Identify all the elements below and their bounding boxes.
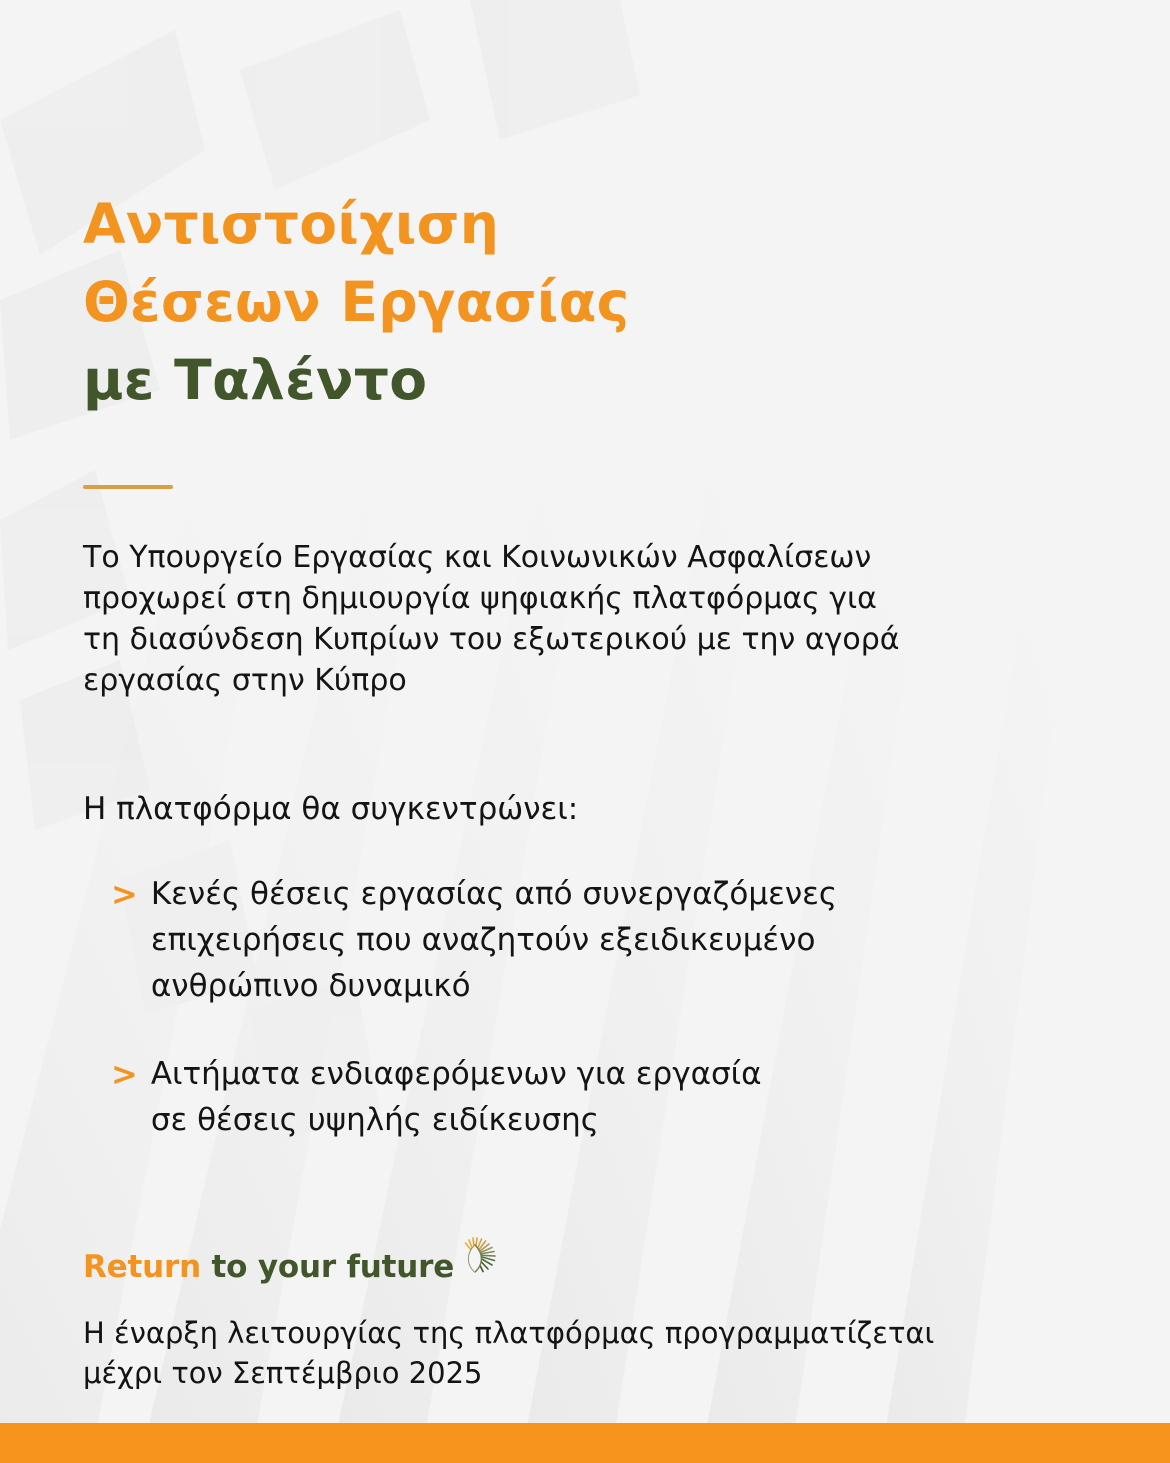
list-item-line: Αιτήματα ενδιαφερόμενων για εργασία [151, 1051, 762, 1097]
intro-line-1: Το Υπουργείο Εργασίας και Κοινωνικών Ασφ… [83, 540, 871, 575]
intro-line-4: εργασίας στην Κύπρο [83, 663, 407, 698]
list-item-text: Αιτήματα ενδιαφερόμενων για εργασία σε θ… [151, 1051, 762, 1143]
page-title: Αντιστοίχιση Θέσεων Εργασίας με Ταλέντο [83, 0, 1110, 419]
list-item: > Κενές θέσεις εργασίας από συνεργαζόμεν… [83, 871, 1110, 1009]
lead-in-text: Η πλατφόρμα θα συγκεντρώνει: [83, 789, 1110, 829]
list-item-text: Κενές θέσεις εργασίας από συνεργαζόμενες… [151, 871, 837, 1009]
intro-line-3: τη διασύνδεση Κυπρίων του εξωτερικού με … [83, 622, 900, 657]
list-item-line: σε θέσεις υψηλής ειδίκευσης [151, 1097, 762, 1143]
chevron-right-icon: > [111, 1051, 138, 1097]
list-item: > Αιτήματα ενδιαφερόμενων για εργασία σε… [83, 1051, 1110, 1143]
poster-canvas: Αντιστοίχιση Θέσεων Εργασίας με Ταλέντο … [0, 0, 1170, 1463]
bullet-list: > Κενές θέσεις εργασίας από συνεργαζόμεν… [83, 871, 1110, 1143]
list-item-line: ανθρώπινο δυναμικό [151, 963, 837, 1009]
list-item-line: επιχειρήσεις που αναζητούν εξειδικευμένο [151, 917, 837, 963]
list-item-line: Κενές θέσεις εργασίας από συνεργαζόμενες [151, 871, 837, 917]
title-line-2: Θέσεων Εργασίας [83, 263, 1110, 341]
title-divider [83, 485, 173, 489]
intro-paragraph: Το Υπουργείο Εργασίας και Κοινωνικών Ασφ… [83, 537, 1110, 701]
content-column: Αντιστοίχιση Θέσεων Εργασίας με Ταλέντο … [0, 0, 1170, 1463]
title-line-3: με Ταλέντο [83, 341, 1110, 419]
intro-line-2: προχωρεί στη δημιουργία ψηφιακής πλατφόρ… [83, 581, 877, 616]
title-line-1: Αντιστοίχιση [83, 185, 1110, 263]
chevron-right-icon: > [111, 871, 138, 917]
bottom-accent-bar [0, 1423, 1170, 1463]
